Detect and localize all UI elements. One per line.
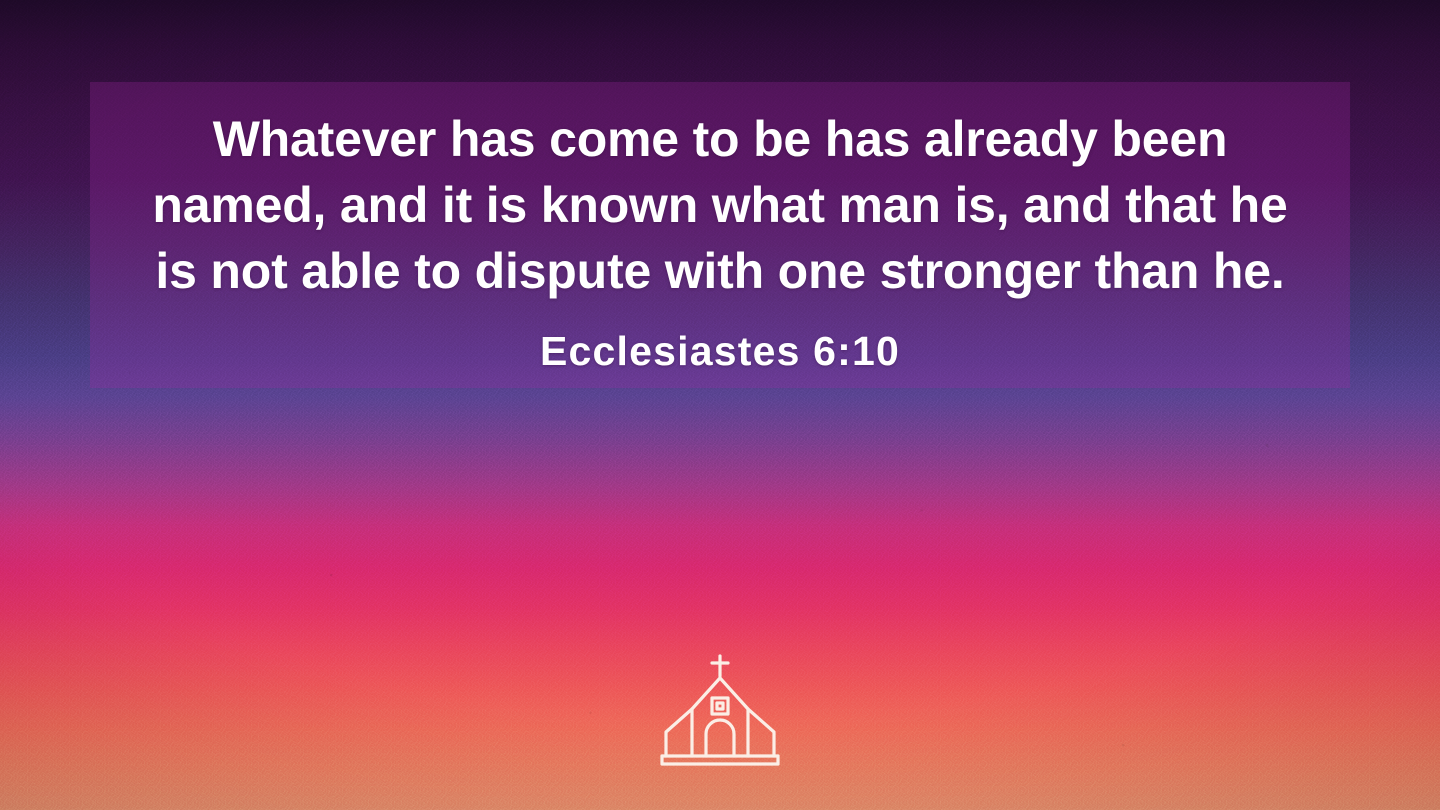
slide-canvas: Whatever has come to be has already been…: [0, 0, 1440, 810]
quote-line-1: Whatever has come to be has already been: [110, 106, 1330, 172]
quote-line-2: named, and it is known what man is, and …: [110, 172, 1330, 238]
quote-panel: Whatever has come to be has already been…: [90, 82, 1350, 388]
scripture-reference: Ecclesiastes 6:10: [540, 326, 900, 376]
church-icon: [656, 652, 784, 770]
quote-line-3: is not able to dispute with one stronger…: [110, 238, 1330, 304]
